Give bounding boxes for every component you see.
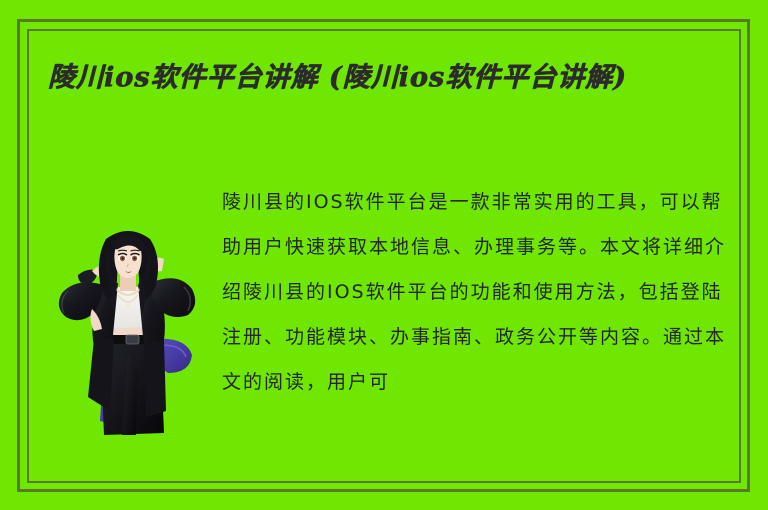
page-title: 陵川ios软件平台讲解 (陵川ios软件平台讲解) (48, 58, 688, 98)
poster-canvas: 陵川ios软件平台讲解 (陵川ios软件平台讲解) (0, 0, 768, 510)
article-body: 陵川县的IOS软件平台是一款非常实用的工具，可以帮助用户快速获取本地信息、办理事… (222, 180, 732, 405)
anime-woman-illustration (52, 221, 202, 439)
